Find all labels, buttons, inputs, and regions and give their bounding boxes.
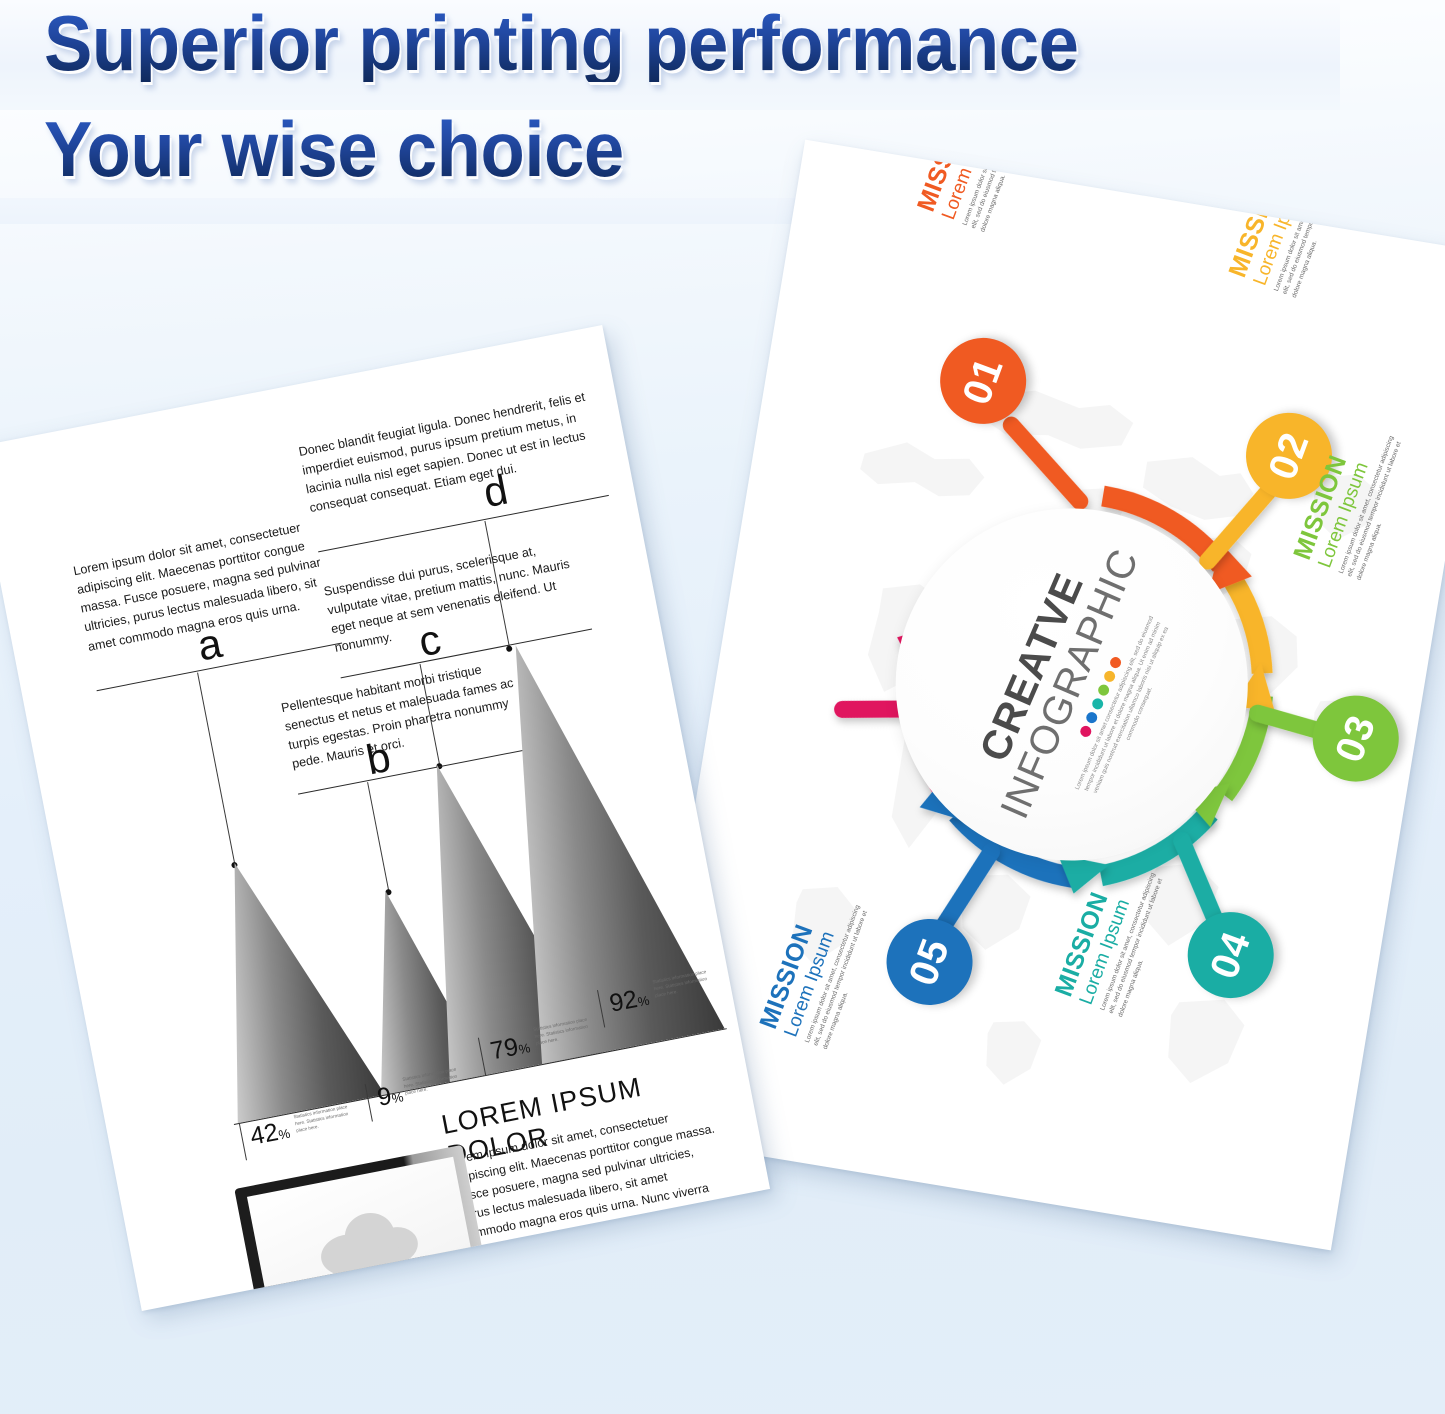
center-dot-1	[1079, 724, 1093, 738]
center-dot-4	[1096, 683, 1110, 697]
headline-line-1: Superior printing performance	[44, 4, 1078, 82]
headline-background-band-second	[0, 198, 810, 224]
chart-value-b: 9%	[375, 1081, 405, 1110]
node-number-05: 05	[900, 932, 958, 991]
monitor-illustration	[232, 1140, 519, 1311]
chart-value-a: 42%	[248, 1118, 291, 1150]
leader-a	[197, 673, 235, 866]
center-dot-6	[1108, 655, 1122, 669]
paragraph-d: Donec blandit feugiat ligula. Donec hend…	[297, 387, 602, 519]
leader-b	[367, 782, 389, 892]
node-number-02: 02	[1260, 426, 1318, 485]
chart-document-page: Donec blandit feugiat ligula. Donec hend…	[0, 325, 770, 1311]
product-marketing-image: Superior printing performance Your wise …	[0, 0, 1445, 1414]
paragraph-c: Suspendisse dui purus, scelerisque at, v…	[322, 534, 588, 658]
chart-bar-a	[189, 843, 385, 1123]
center-dot-3	[1090, 697, 1104, 711]
leader-dot-d	[506, 645, 513, 652]
headline-line-2: Your wise choice	[44, 110, 624, 188]
infographic-page: CREATVE INFOGRAPHIC Lorem ipsum dolor si…	[640, 140, 1445, 1251]
pct-divider-a	[239, 1123, 247, 1160]
center-dot-5	[1102, 669, 1116, 683]
center-dot-2	[1085, 710, 1099, 724]
node-number-04: 04	[1202, 925, 1260, 984]
node-number-03: 03	[1327, 709, 1385, 768]
node-number-01: 01	[954, 351, 1012, 410]
